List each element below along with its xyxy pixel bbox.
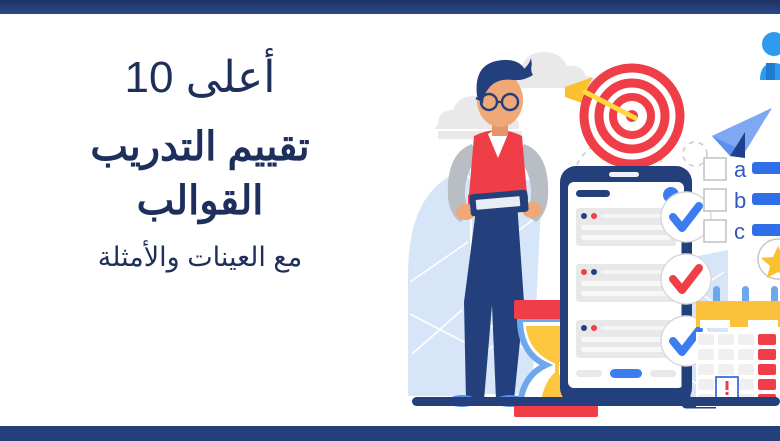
illustration: a b c (400, 14, 780, 427)
calendar-grid (696, 332, 780, 407)
top-accent-bar (0, 0, 780, 14)
choice-option: b (704, 188, 780, 213)
calendar-icon (696, 286, 780, 407)
paper-plane-icon (712, 108, 772, 158)
ground-bar (412, 397, 780, 406)
bottom-accent-bar (0, 426, 780, 441)
choice-label: b (734, 188, 746, 213)
target-icon (584, 68, 680, 164)
eyebrow-text: أعلى 10 (0, 52, 400, 104)
main-title-line2: القوالب (0, 174, 400, 228)
calendar-alert-cell (716, 377, 738, 399)
subtitle-text: مع العينات والأمثلة (0, 240, 400, 275)
poster-canvas: أعلى 10 تقييم التدريب القوالب مع العينات… (0, 0, 780, 441)
choice-label: a (734, 157, 747, 182)
user-icon (760, 32, 780, 80)
main-title: تقييم التدريب القوالب (0, 120, 400, 228)
star-badge-icon (758, 239, 780, 279)
choice-option: c (704, 219, 780, 244)
multiple-choice-list: a b c (704, 157, 780, 244)
checkmark-circle (661, 254, 711, 304)
choice-option: a (704, 157, 780, 182)
main-title-line1: تقييم التدريب (90, 125, 309, 169)
headline-block: أعلى 10 تقييم التدريب القوالب مع العينات… (0, 52, 400, 275)
choice-label: c (734, 219, 745, 244)
